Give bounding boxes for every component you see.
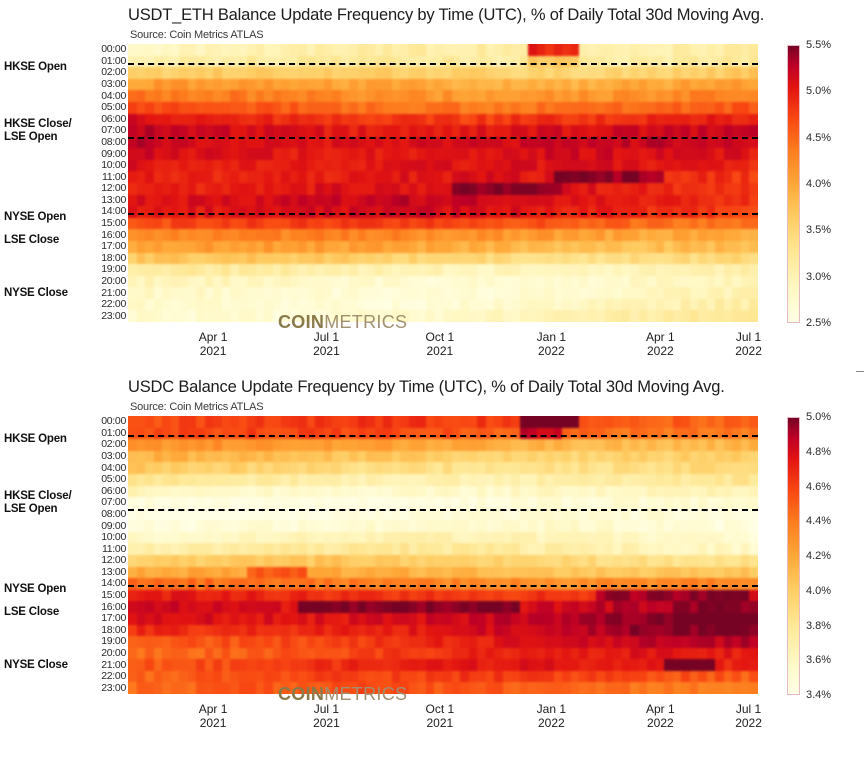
reference-dashed-line-2 xyxy=(128,585,758,587)
heatmap-cell xyxy=(749,567,758,579)
hour-label: 13:00 xyxy=(101,195,126,206)
x-tick-year: 2022 xyxy=(735,344,762,358)
x-tick-label: Jan 12022 xyxy=(537,702,566,730)
heatmap-cell xyxy=(749,67,758,79)
chart-panel-usdc: USDC Balance Update Frequency by Time (U… xyxy=(0,372,866,764)
heatmap-cell xyxy=(749,90,758,102)
heatmap-row xyxy=(128,555,758,567)
x-tick-month: Jul 1 xyxy=(313,330,340,344)
colorbar-usdc: 3.4%3.6%3.8%4.0%4.2%4.4%4.6%4.8%5.0% xyxy=(787,417,857,695)
market-annotation-line: HKSE Open xyxy=(4,433,86,446)
hour-label: 07:00 xyxy=(101,497,126,508)
heatmap-cell xyxy=(749,264,758,276)
heatmap-row xyxy=(128,462,758,474)
hour-label: 07:00 xyxy=(101,125,126,136)
heatmap-cell xyxy=(749,218,758,230)
heatmap-row xyxy=(128,160,758,172)
hour-label: 05:00 xyxy=(101,102,126,113)
heatmap-cell xyxy=(749,648,758,660)
x-tick-label: Apr 12021 xyxy=(199,702,228,730)
market-annotation: NYSE Close xyxy=(4,287,86,300)
colorbar-tick-label: 5.5% xyxy=(806,39,831,51)
heatmap-row xyxy=(128,543,758,555)
heatmap-cell xyxy=(749,462,758,474)
hour-label: 22:00 xyxy=(101,299,126,310)
hour-label: 02:00 xyxy=(101,67,126,78)
hour-label: 03:00 xyxy=(101,451,126,462)
heatmap-cell xyxy=(749,171,758,183)
watermark-coinmetrics-usdc: COINMETRICS xyxy=(278,684,407,705)
x-tick-label: Jul 12022 xyxy=(735,330,762,358)
market-annotation: LSE Close xyxy=(4,234,86,247)
heatmap-cell xyxy=(749,310,758,322)
heatmap-cell xyxy=(749,79,758,91)
hour-label: 01:00 xyxy=(101,428,126,439)
heatmap-row xyxy=(128,276,758,288)
market-annotations-usdt-eth: HKSE OpenHKSE Close/LSE OpenNYSE OpenLSE… xyxy=(0,44,86,322)
market-annotation: HKSE Close/LSE Open xyxy=(4,118,86,144)
market-annotation: HKSE Open xyxy=(4,61,86,74)
market-annotation: NYSE Open xyxy=(4,583,86,596)
heatmap-row xyxy=(128,671,758,683)
hour-label: 09:00 xyxy=(101,521,126,532)
colorbar-usdt-eth: 2.5%3.0%3.5%4.0%4.5%5.0%5.5% xyxy=(787,45,857,323)
x-tick-year: 2022 xyxy=(537,716,566,730)
heatmap-cell xyxy=(749,253,758,265)
heatmap-cell xyxy=(749,486,758,498)
watermark-bold: COIN xyxy=(278,684,324,704)
heatmap-cell xyxy=(749,102,758,114)
heatmap-cell xyxy=(749,555,758,567)
heatmap-cell xyxy=(749,114,758,126)
x-tick-label: Jan 12022 xyxy=(537,330,566,358)
hour-label: 19:00 xyxy=(101,636,126,647)
x-tick-year: 2022 xyxy=(537,344,566,358)
watermark-bold: COIN xyxy=(278,312,324,332)
hour-label: 11:00 xyxy=(102,544,126,555)
colorbar-tick-label: 3.8% xyxy=(806,620,831,632)
hour-label: 00:00 xyxy=(101,44,126,55)
heatmap-row xyxy=(128,218,758,230)
colorbar-tick-label: 4.6% xyxy=(806,481,831,493)
hour-label: 19:00 xyxy=(101,264,126,275)
market-annotation: HKSE Close/LSE Open xyxy=(4,490,86,516)
heatmap-cell xyxy=(749,532,758,544)
heatmap-row xyxy=(128,439,758,451)
hour-label: 04:00 xyxy=(101,91,126,102)
x-tick-label: Oct 12021 xyxy=(426,702,455,730)
heatmap-row xyxy=(128,613,758,625)
heatmap-cell xyxy=(749,44,758,56)
chart-page: USDT_ETH Balance Update Frequency by Tim… xyxy=(0,0,866,764)
colorbar-tick-label: 4.8% xyxy=(806,446,831,458)
heatmap-cell xyxy=(749,276,758,288)
heatmap-row xyxy=(128,114,758,126)
heatmap-cell xyxy=(749,659,758,671)
x-tick-year: 2021 xyxy=(199,344,228,358)
hour-label: 23:00 xyxy=(101,683,126,694)
hour-label: 04:00 xyxy=(101,463,126,474)
market-annotation-line: NYSE Close xyxy=(4,659,86,672)
colorbar-tick-label: 2.5% xyxy=(806,317,831,329)
colorbar-gradient xyxy=(787,417,800,695)
x-tick-month: Jan 1 xyxy=(537,330,566,344)
market-annotation-line: NYSE Open xyxy=(4,211,86,224)
heatmap-row xyxy=(128,102,758,114)
heatmap-row xyxy=(128,590,758,602)
heatmap-row xyxy=(128,451,758,463)
heatmap-row xyxy=(128,310,758,322)
heatmap-cell xyxy=(749,520,758,532)
x-tick-month: Jul 1 xyxy=(735,702,762,716)
heatmap-cell xyxy=(749,241,758,253)
hour-label: 09:00 xyxy=(101,149,126,160)
hour-label: 06:00 xyxy=(101,486,126,497)
heatmap-cell xyxy=(749,636,758,648)
hour-label: 20:00 xyxy=(101,648,126,659)
hour-label: 22:00 xyxy=(101,671,126,682)
heatmap-cell xyxy=(749,601,758,613)
y-axis-hours-usdc: 00:0001:0002:0003:0004:0005:0006:0007:00… xyxy=(86,416,126,694)
hour-label: 14:00 xyxy=(101,578,126,589)
x-tick-month: Jul 1 xyxy=(313,702,340,716)
hour-label: 10:00 xyxy=(101,532,126,543)
watermark-coinmetrics-usdt-eth: COINMETRICS xyxy=(278,312,407,333)
x-tick-label: Jul 12021 xyxy=(313,702,340,730)
chart-title-usdt-eth: USDT_ETH Balance Update Frequency by Tim… xyxy=(128,6,858,25)
y-axis-hours-usdt-eth: 00:0001:0002:0003:0004:0005:0006:0007:00… xyxy=(86,44,126,322)
heatmap-cell xyxy=(749,613,758,625)
x-tick-year: 2022 xyxy=(646,344,675,358)
hour-label: 17:00 xyxy=(101,613,126,624)
x-tick-label: Oct 12021 xyxy=(426,330,455,358)
heatmap-cell xyxy=(749,416,758,428)
colorbar-tick-label: 4.2% xyxy=(806,550,831,562)
x-tick-year: 2021 xyxy=(426,344,455,358)
watermark-light: METRICS xyxy=(324,312,407,332)
hour-label: 21:00 xyxy=(101,660,126,671)
hour-label: 01:00 xyxy=(101,56,126,67)
hour-label: 16:00 xyxy=(101,602,126,613)
heatmap-cell xyxy=(749,497,758,509)
x-tick-month: Oct 1 xyxy=(426,702,455,716)
hour-label: 02:00 xyxy=(101,439,126,450)
colorbar-tick-label: 3.0% xyxy=(806,271,831,283)
heatmap-row xyxy=(128,241,758,253)
chart-title-usdc: USDC Balance Update Frequency by Time (U… xyxy=(128,378,858,397)
colorbar-tick-label: 3.5% xyxy=(806,224,831,236)
heatmap-cell xyxy=(749,590,758,602)
chart-source-usdt-eth: Source: Coin Metrics ATLAS xyxy=(130,29,263,41)
x-tick-label: Jul 12022 xyxy=(735,702,762,730)
hour-label: 15:00 xyxy=(101,218,126,229)
colorbar-tick-label: 3.6% xyxy=(806,654,831,666)
market-annotation-line: NYSE Close xyxy=(4,287,86,300)
market-annotation-line: LSE Close xyxy=(4,234,86,247)
heatmap-cell xyxy=(749,229,758,241)
market-annotation: LSE Close xyxy=(4,606,86,619)
x-tick-year: 2022 xyxy=(735,716,762,730)
colorbar-tick-label: 5.0% xyxy=(806,85,831,97)
heatmap-row xyxy=(128,79,758,91)
x-tick-month: Jul 1 xyxy=(735,330,762,344)
hour-label: 12:00 xyxy=(101,555,126,566)
heatmap-cell xyxy=(749,671,758,683)
colorbar-gradient xyxy=(787,45,800,323)
heatmap-cell xyxy=(749,682,758,694)
colorbar-tick-label: 4.0% xyxy=(806,178,831,190)
hour-label: 21:00 xyxy=(101,288,126,299)
colorbar-tick-label: 4.4% xyxy=(806,515,831,527)
heatmap-row xyxy=(128,44,758,56)
heatmap-cell xyxy=(749,148,758,160)
x-tick-month: Apr 1 xyxy=(646,330,675,344)
hour-label: 18:00 xyxy=(101,253,126,264)
heatmap-row xyxy=(128,601,758,613)
market-annotation-line: LSE Open xyxy=(4,503,86,516)
heatmap-cell xyxy=(749,543,758,555)
reference-dashed-line-0 xyxy=(128,435,758,437)
heatmap-row xyxy=(128,67,758,79)
x-tick-month: Apr 1 xyxy=(199,330,228,344)
hour-label: 05:00 xyxy=(101,474,126,485)
heatmap-row xyxy=(128,659,758,671)
heatmap-row xyxy=(128,253,758,265)
market-annotation-line: NYSE Open xyxy=(4,583,86,596)
heatmap-cell xyxy=(749,474,758,486)
market-annotation-line: HKSE Close/ xyxy=(4,490,86,503)
market-annotation-line: LSE Open xyxy=(4,131,86,144)
hour-label: 06:00 xyxy=(101,114,126,125)
heatmap-row xyxy=(128,625,758,637)
market-annotation: NYSE Open xyxy=(4,211,86,224)
colorbar-tick-label: 5.0% xyxy=(806,411,831,423)
hour-label: 08:00 xyxy=(101,137,126,148)
x-tick-label: Apr 12021 xyxy=(199,330,228,358)
heatmap-cell xyxy=(749,299,758,311)
hour-label: 10:00 xyxy=(101,160,126,171)
heatmap-cell xyxy=(749,160,758,172)
x-tick-year: 2021 xyxy=(313,344,340,358)
market-annotation-line: LSE Close xyxy=(4,606,86,619)
heatmap-row xyxy=(128,636,758,648)
heatmap-usdc xyxy=(128,416,758,694)
heatmap-row xyxy=(128,171,758,183)
heatmap-cell xyxy=(749,439,758,451)
x-tick-month: Jan 1 xyxy=(537,702,566,716)
heatmap-row xyxy=(128,486,758,498)
reference-dashed-line-0 xyxy=(128,63,758,65)
market-annotation: NYSE Close xyxy=(4,659,86,672)
x-tick-label: Jul 12021 xyxy=(313,330,340,358)
hour-label: 16:00 xyxy=(101,230,126,241)
heatmap-row xyxy=(128,299,758,311)
chart-panel-usdt-eth: USDT_ETH Balance Update Frequency by Tim… xyxy=(0,0,866,372)
heatmap-row xyxy=(128,648,758,660)
hour-label: 12:00 xyxy=(101,183,126,194)
hour-label: 11:00 xyxy=(102,172,126,183)
heatmap-row xyxy=(128,497,758,509)
heatmap-row xyxy=(128,229,758,241)
chart-source-usdc: Source: Coin Metrics ATLAS xyxy=(130,401,263,413)
heatmap-row xyxy=(128,532,758,544)
x-tick-year: 2022 xyxy=(646,716,675,730)
heatmap-cell xyxy=(749,195,758,207)
heatmap-row xyxy=(128,567,758,579)
hour-label: 23:00 xyxy=(101,311,126,322)
hour-label: 00:00 xyxy=(101,416,126,427)
x-tick-year: 2021 xyxy=(199,716,228,730)
heatmap-usdt-eth xyxy=(128,44,758,322)
x-tick-month: Apr 1 xyxy=(646,702,675,716)
x-tick-month: Apr 1 xyxy=(199,702,228,716)
x-tick-month: Oct 1 xyxy=(426,330,455,344)
heatmap-row xyxy=(128,125,758,137)
hour-label: 15:00 xyxy=(101,590,126,601)
hour-label: 14:00 xyxy=(101,206,126,217)
x-tick-year: 2021 xyxy=(313,716,340,730)
market-annotations-usdc: HKSE OpenHKSE Close/LSE OpenNYSE OpenLSE… xyxy=(0,416,86,694)
heatmap-cell xyxy=(749,451,758,463)
hour-label: 03:00 xyxy=(101,79,126,90)
heatmap-cell xyxy=(749,625,758,637)
page-edge-tick xyxy=(856,371,864,372)
heatmap-row xyxy=(128,416,758,428)
market-annotation-line: HKSE Close/ xyxy=(4,118,86,131)
reference-dashed-line-1 xyxy=(128,137,758,139)
colorbar-tick-label: 3.4% xyxy=(806,689,831,701)
heatmap-row xyxy=(128,90,758,102)
x-tick-year: 2021 xyxy=(426,716,455,730)
reference-dashed-line-1 xyxy=(128,509,758,511)
heatmap-cell xyxy=(749,125,758,137)
reference-dashed-line-2 xyxy=(128,213,758,215)
heatmap-row xyxy=(128,195,758,207)
heatmap-row xyxy=(128,287,758,299)
heatmap-cell xyxy=(749,183,758,195)
heatmap-row xyxy=(128,264,758,276)
market-annotation-line: HKSE Open xyxy=(4,61,86,74)
heatmap-row xyxy=(128,183,758,195)
hour-label: 13:00 xyxy=(101,567,126,578)
hour-label: 17:00 xyxy=(101,241,126,252)
colorbar-tick-label: 4.5% xyxy=(806,132,831,144)
heatmap-row xyxy=(128,682,758,694)
x-tick-label: Apr 12022 xyxy=(646,702,675,730)
heatmap-row xyxy=(128,148,758,160)
heatmap-row xyxy=(128,520,758,532)
market-annotation: HKSE Open xyxy=(4,433,86,446)
x-tick-label: Apr 12022 xyxy=(646,330,675,358)
heatmap-row xyxy=(128,474,758,486)
colorbar-tick-label: 4.0% xyxy=(806,585,831,597)
heatmap-cell xyxy=(749,287,758,299)
watermark-light: METRICS xyxy=(324,684,407,704)
hour-label: 18:00 xyxy=(101,625,126,636)
hour-label: 08:00 xyxy=(101,509,126,520)
hour-label: 20:00 xyxy=(101,276,126,287)
